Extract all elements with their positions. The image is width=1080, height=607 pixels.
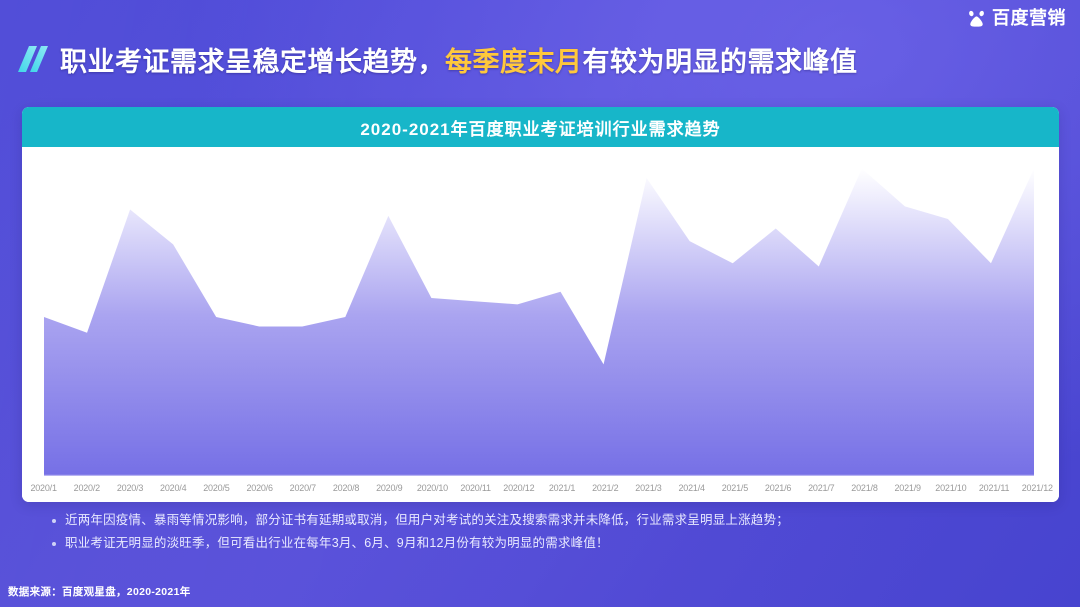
chart-area: 2020/12020/22020/32020/42020/52020/62020…: [22, 147, 1059, 502]
brand-name: 百度营销: [992, 8, 1066, 29]
page-title: 职业考证需求呈稳定增长趋势，每季度末月有较为明显的需求峰值: [60, 40, 858, 79]
brand-logo: 百度营销: [966, 8, 1066, 29]
insight-bullet-list: 近两年因疫情、暴雨等情况影响，部分证书有延期或取消，但用户对考试的关注及搜索需求…: [52, 512, 1056, 558]
x-axis-tick: 2020/4: [152, 483, 195, 499]
headline-part2: 有较为明显的需求峰值: [583, 47, 858, 77]
chart-card-header: 2020-2021年百度职业考证培训行业需求趋势: [22, 107, 1059, 147]
headline-part1: 职业考证需求呈稳定增长趋势，: [60, 47, 445, 77]
x-axis-tick: 2020/2: [65, 483, 108, 499]
baidu-paw-icon: [966, 8, 987, 29]
x-axis-tick: 2020/9: [368, 483, 411, 499]
x-axis-tick: 2021/3: [627, 483, 670, 499]
double-slash-icon: [16, 43, 50, 75]
data-source-note: 数据来源：百度观星盘，2020-2021年: [8, 584, 191, 599]
x-axis-tick: 2020/11: [454, 483, 497, 499]
bullet-dot-icon: [52, 519, 56, 523]
bullet-text: 职业考证无明显的淡旺季，但可看出行业在每年3月、6月、9月和12月份有较为明显的…: [65, 535, 609, 552]
x-axis-tick: 2021/10: [929, 483, 972, 499]
x-axis-tick: 2021/5: [713, 483, 756, 499]
chart-title: 2020-2021年百度职业考证培训行业需求趋势: [360, 115, 720, 140]
x-axis-tick: 2020/8: [324, 483, 367, 499]
chart-card: 2020-2021年百度职业考证培训行业需求趋势 2020/12020/2202…: [22, 107, 1059, 502]
x-axis-tick: 2021/1: [540, 483, 583, 499]
x-axis-tick: 2020/10: [411, 483, 454, 499]
x-axis-tick: 2020/7: [281, 483, 324, 499]
x-axis-tick: 2021/9: [886, 483, 929, 499]
x-axis-tick: 2021/4: [670, 483, 713, 499]
bullet-dot-icon: [52, 542, 56, 546]
x-axis-tick: 2021/6: [756, 483, 799, 499]
x-axis-tick: 2021/7: [800, 483, 843, 499]
x-axis-tick-labels: 2020/12020/22020/32020/42020/52020/62020…: [22, 483, 1059, 499]
bullet-text: 近两年因疫情、暴雨等情况影响，部分证书有延期或取消，但用户对考试的关注及搜索需求…: [65, 512, 789, 529]
list-item: 近两年因疫情、暴雨等情况影响，部分证书有延期或取消，但用户对考试的关注及搜索需求…: [52, 512, 1056, 529]
list-item: 职业考证无明显的淡旺季，但可看出行业在每年3月、6月、9月和12月份有较为明显的…: [52, 535, 1056, 552]
demand-trend-area-chart: [22, 147, 1059, 487]
x-axis-tick: 2021/12: [1016, 483, 1059, 499]
area-series-fill: [44, 168, 1034, 475]
x-axis-tick: 2020/5: [195, 483, 238, 499]
x-axis-tick: 2020/12: [497, 483, 540, 499]
headline: 职业考证需求呈稳定增长趋势，每季度末月有较为明显的需求峰值: [16, 38, 1060, 80]
x-axis-tick: 2021/8: [843, 483, 886, 499]
headline-highlight: 每季度末月: [445, 47, 583, 77]
slide-root: 百度营销 职业考证需求呈稳定增长趋势，每季度末月有较为明显的需求峰值 2020-…: [0, 0, 1080, 607]
x-axis-tick: 2021/11: [972, 483, 1015, 499]
x-axis-tick: 2020/3: [108, 483, 151, 499]
x-axis-tick: 2020/1: [22, 483, 65, 499]
x-axis-tick: 2021/2: [584, 483, 627, 499]
x-axis-tick: 2020/6: [238, 483, 281, 499]
